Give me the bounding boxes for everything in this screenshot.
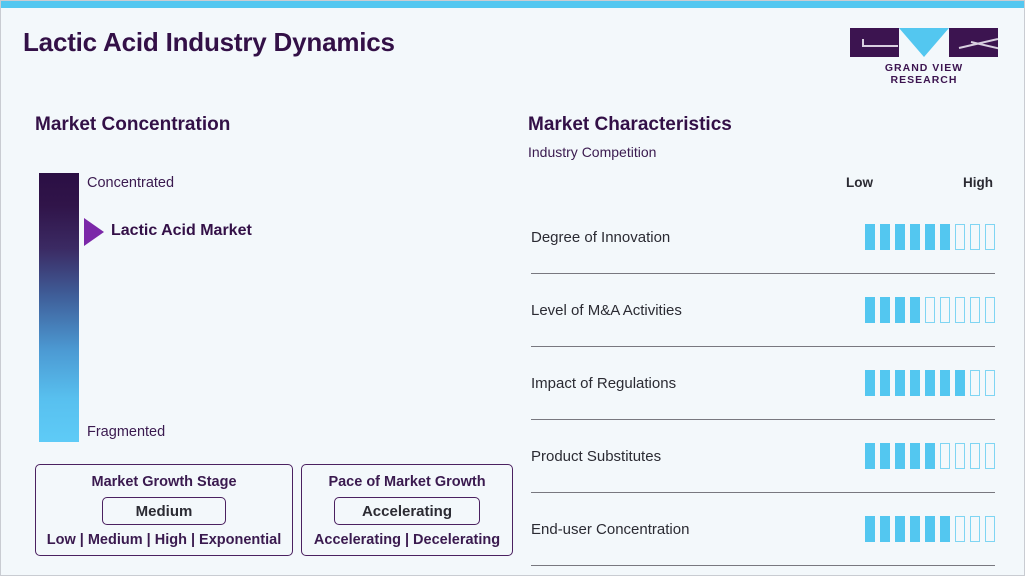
meter-segment-filled <box>865 516 875 542</box>
meter-segment-filled <box>925 443 935 469</box>
logo-text: GRAND VIEW RESEARCH <box>850 62 998 86</box>
infographic-page: Lactic Acid Industry Dynamics GRAND VIEW… <box>0 0 1025 576</box>
concentration-top-label: Concentrated <box>87 175 174 191</box>
meter-segment-empty <box>955 224 965 250</box>
characteristic-row: Product Substitutes <box>531 420 995 493</box>
meter-segment-filled <box>940 370 950 396</box>
pace-of-market-growth-value: Accelerating <box>362 503 452 520</box>
meter-segment-filled <box>865 370 875 396</box>
characteristic-meter <box>865 443 995 469</box>
characteristic-meter <box>865 370 995 396</box>
characteristic-label: Product Substitutes <box>531 448 661 465</box>
meter-segment-empty <box>925 297 935 323</box>
characteristic-meter <box>865 297 995 323</box>
meter-segment-empty <box>985 297 995 323</box>
meter-segment-empty <box>955 297 965 323</box>
meter-segment-filled <box>940 516 950 542</box>
concentration-bottom-label: Fragmented <box>87 424 165 440</box>
scale-high-label: High <box>957 175 993 190</box>
market-characteristics-rows: Degree of InnovationLevel of M&A Activit… <box>531 201 995 566</box>
characteristic-label: Degree of Innovation <box>531 229 670 246</box>
market-concentration-heading: Market Concentration <box>35 114 230 136</box>
meter-segment-filled <box>880 443 890 469</box>
meter-segment-filled <box>895 224 905 250</box>
meter-segment-filled <box>880 370 890 396</box>
logo-marks <box>850 28 998 57</box>
meter-segment-filled <box>880 297 890 323</box>
meter-segment-filled <box>910 516 920 542</box>
meter-segment-empty <box>970 516 980 542</box>
meter-segment-filled <box>865 443 875 469</box>
scale-low-label: Low <box>846 175 873 190</box>
meter-segment-filled <box>880 516 890 542</box>
meter-segment-empty <box>940 443 950 469</box>
meter-segment-filled <box>910 224 920 250</box>
market-growth-stage-value-box: Medium <box>102 497 226 525</box>
logo-left-block-icon <box>850 28 899 57</box>
meter-segment-empty <box>985 443 995 469</box>
characteristic-meter <box>865 224 995 250</box>
characteristic-row: Degree of Innovation <box>531 201 995 274</box>
characteristic-row: Impact of Regulations <box>531 347 995 420</box>
meter-segment-empty <box>985 370 995 396</box>
meter-segment-empty <box>955 516 965 542</box>
characteristic-row: End-user Concentration <box>531 493 995 566</box>
meter-segment-empty <box>985 224 995 250</box>
meter-segment-filled <box>880 224 890 250</box>
meter-segment-filled <box>910 370 920 396</box>
market-characteristics-heading: Market Characteristics <box>528 114 732 136</box>
meter-segment-empty <box>985 516 995 542</box>
meter-segment-filled <box>910 443 920 469</box>
meter-segment-filled <box>925 224 935 250</box>
grand-view-research-logo: GRAND VIEW RESEARCH <box>850 28 998 86</box>
characteristic-meter <box>865 516 995 542</box>
market-growth-stage-value: Medium <box>136 503 193 520</box>
logo-right-block-icon <box>949 28 998 57</box>
pace-of-market-growth-value-box: Accelerating <box>334 497 480 525</box>
concentration-gradient-bar <box>39 173 79 442</box>
market-growth-stage-title: Market Growth Stage <box>36 474 292 490</box>
meter-segment-empty <box>970 370 980 396</box>
meter-segment-filled <box>925 370 935 396</box>
meter-segment-empty <box>940 297 950 323</box>
meter-segment-filled <box>940 224 950 250</box>
market-growth-stage-options: Low | Medium | High | Exponential <box>36 532 292 548</box>
pace-of-market-growth-card: Pace of Market Growth Accelerating Accel… <box>301 464 513 556</box>
meter-segment-filled <box>865 297 875 323</box>
meter-segment-empty <box>970 297 980 323</box>
pace-of-market-growth-title: Pace of Market Growth <box>302 474 512 490</box>
characteristic-label: Level of M&A Activities <box>531 302 682 319</box>
top-accent-bar <box>1 1 1025 8</box>
meter-segment-empty <box>970 443 980 469</box>
meter-segment-filled <box>895 370 905 396</box>
meter-segment-filled <box>910 297 920 323</box>
meter-segment-empty <box>955 443 965 469</box>
meter-segment-filled <box>925 516 935 542</box>
page-title: Lactic Acid Industry Dynamics <box>23 27 395 58</box>
meter-segment-filled <box>895 516 905 542</box>
meter-segment-filled <box>895 297 905 323</box>
market-growth-stage-card: Market Growth Stage Medium Low | Medium … <box>35 464 293 556</box>
characteristic-label: Impact of Regulations <box>531 375 676 392</box>
meter-segment-filled <box>865 224 875 250</box>
market-characteristics-subheading: Industry Competition <box>528 144 656 160</box>
characteristic-row: Level of M&A Activities <box>531 274 995 347</box>
pace-of-market-growth-options: Accelerating | Decelerating <box>302 532 512 548</box>
logo-triangle-icon <box>899 28 949 57</box>
market-position-arrow-icon <box>84 218 104 246</box>
meter-segment-filled <box>955 370 965 396</box>
market-position-label: Lactic Acid Market <box>111 222 252 240</box>
characteristic-label: End-user Concentration <box>531 521 689 538</box>
meter-segment-filled <box>895 443 905 469</box>
meter-segment-empty <box>970 224 980 250</box>
